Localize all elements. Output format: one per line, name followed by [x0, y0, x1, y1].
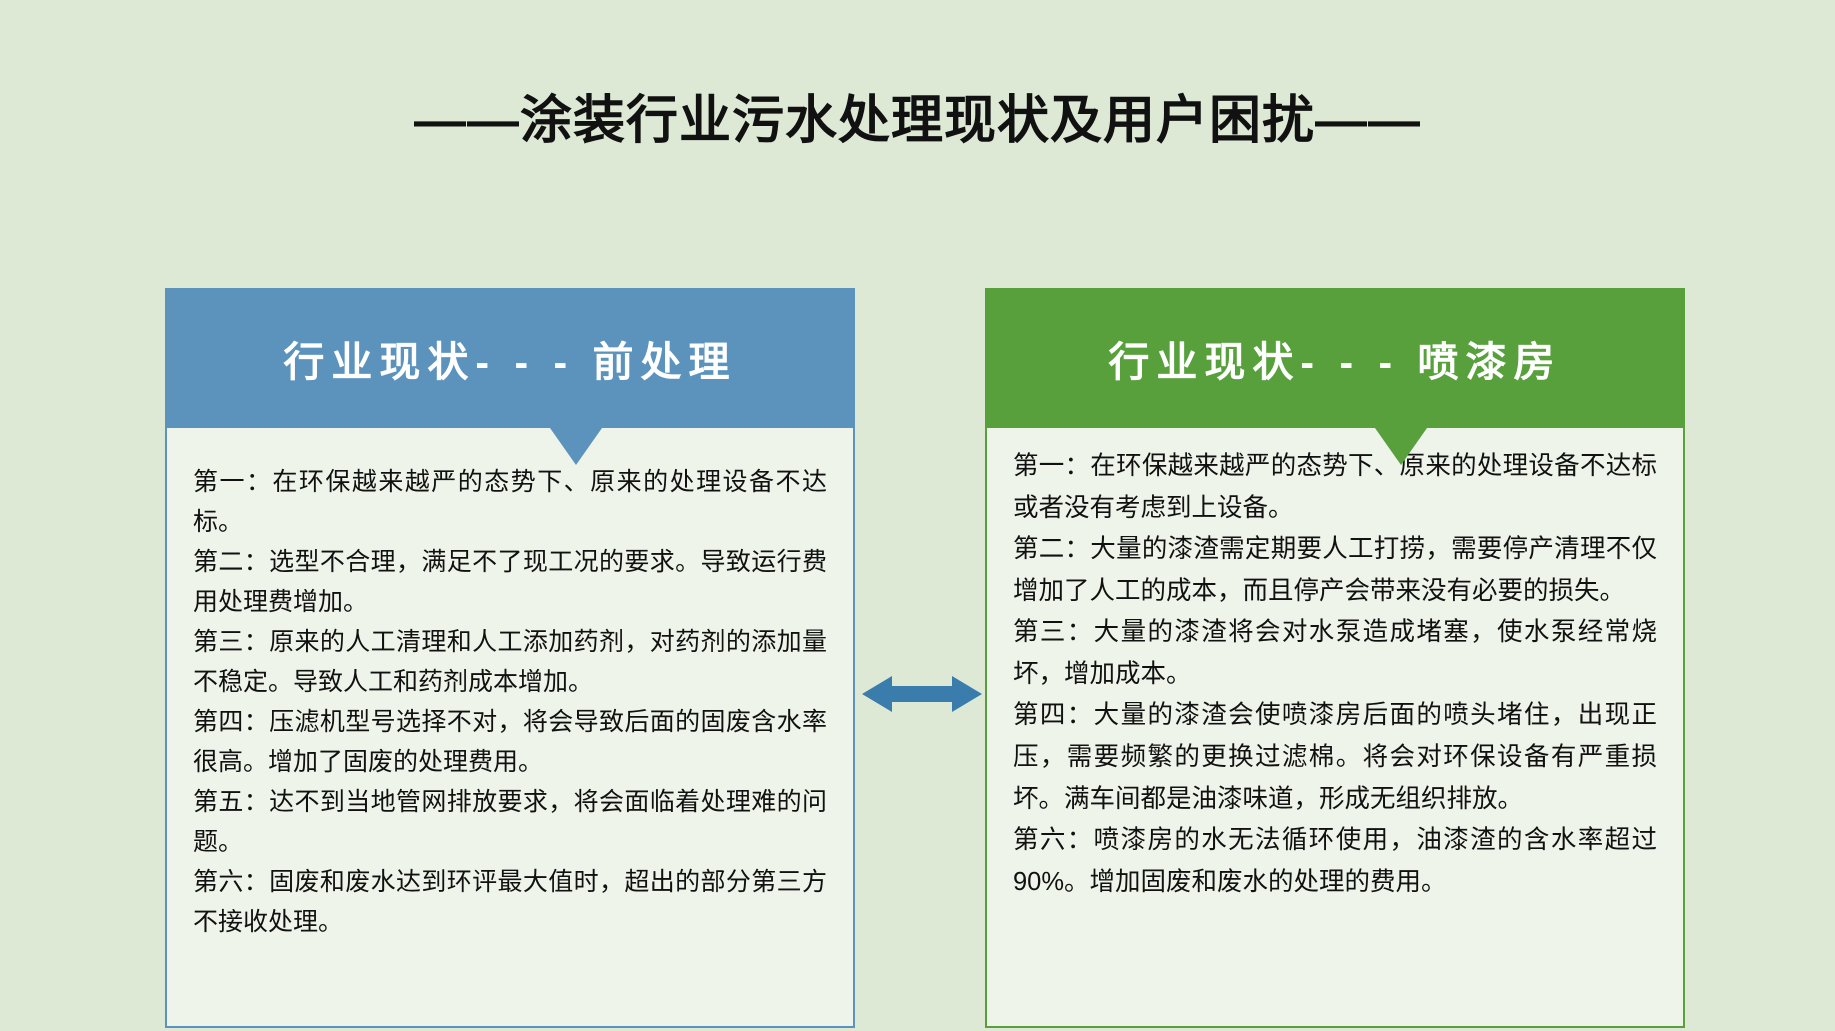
panel-body-pretreatment: 第一：在环保越来越严的态势下、原来的处理设备不达标。 第二：选型不合理，满足不了… — [165, 428, 855, 1028]
panel-line: 第二：选型不合理，满足不了现工况的要求。导致运行费用处理费增加。 — [193, 542, 827, 622]
panel-header-label: 行业现状- - - 前处理 — [283, 328, 736, 388]
panel-line: 第六：喷漆房的水无法循环使用，油漆渣的含水率超过90%。增加固废和废水的处理的费… — [1013, 820, 1657, 903]
panel-spray-booth: 行业现状- - - 喷漆房 第一：在环保越来越严的态势下、原来的处理设备不达标或… — [985, 288, 1685, 1028]
panel-line: 第一：在环保越来越严的态势下、原来的处理设备不达标。 — [193, 462, 827, 542]
panel-pointer-icon — [1375, 428, 1427, 465]
panel-line: 第六：固废和废水达到环评最大值时，超出的部分第三方不接收处理。 — [193, 862, 827, 942]
panel-line: 第二：大量的漆渣需定期要人工打捞，需要停产清理不仅增加了人工的成本，而且停产会带… — [1013, 529, 1657, 612]
panel-line: 第三：原来的人工清理和人工添加药剂，对药剂的添加量不稳定。导致人工和药剂成本增加… — [193, 622, 827, 702]
panel-header-pretreatment: 行业现状- - - 前处理 — [165, 288, 855, 428]
panel-header-label: 行业现状- - - 喷漆房 — [1108, 328, 1561, 388]
panel-header-spray-booth: 行业现状- - - 喷漆房 — [985, 288, 1685, 428]
panel-pointer-icon — [550, 428, 602, 465]
panel-line: 第三：大量的漆渣将会对水泵造成堵塞，使水泵经常烧坏，增加成本。 — [1013, 612, 1657, 695]
panel-line: 第五：达不到当地管网排放要求，将会面临着处理难的问题。 — [193, 782, 827, 862]
page-title: ——涂装行业污水处理现状及用户困扰—— — [0, 78, 1835, 153]
panel-line: 第一：在环保越来越严的态势下、原来的处理设备不达标或者没有考虑到上设备。 — [1013, 446, 1657, 529]
panel-body-spray-booth: 第一：在环保越来越严的态势下、原来的处理设备不达标或者没有考虑到上设备。 第二：… — [985, 428, 1685, 1028]
panel-pretreatment: 行业现状- - - 前处理 第一：在环保越来越严的态势下、原来的处理设备不达标。… — [165, 288, 855, 1028]
double-arrow-icon — [862, 672, 982, 716]
panel-line: 第四：压滤机型号选择不对，将会导致后面的固废含水率很高。增加了固废的处理费用。 — [193, 702, 827, 782]
panel-line: 第四：大量的漆渣会使喷漆房后面的喷头堵住，出现正压，需要频繁的更换过滤棉。将会对… — [1013, 695, 1657, 820]
